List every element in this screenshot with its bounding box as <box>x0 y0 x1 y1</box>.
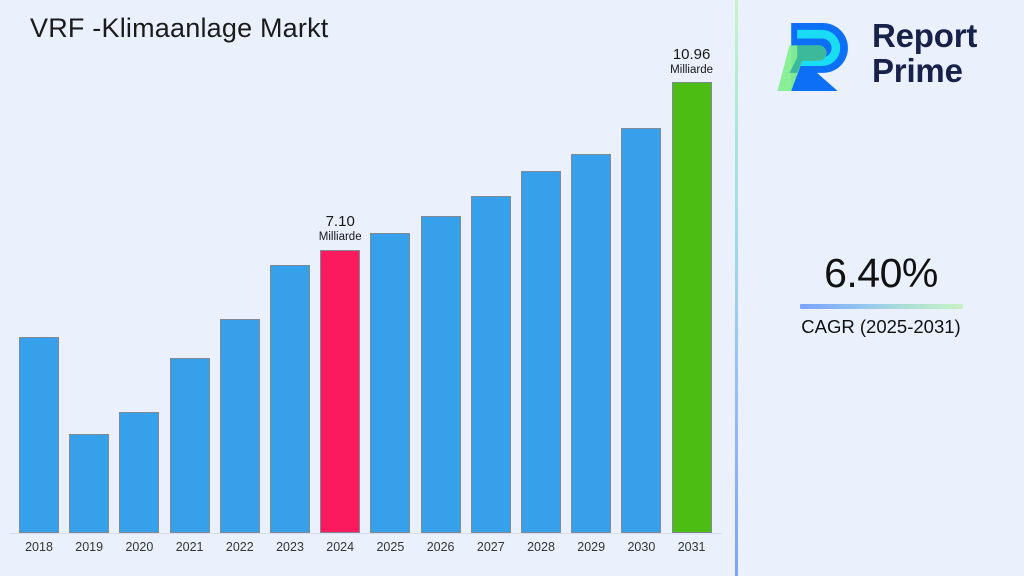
right-panel: Report Prime 6.40% CAGR (2025-2031) <box>738 0 1024 576</box>
bar-2021[interactable] <box>170 358 210 533</box>
bar-2031[interactable] <box>672 82 712 533</box>
report-prime-logo-icon <box>774 11 860 97</box>
x-axis-tick-2028: 2028 <box>513 540 569 554</box>
x-axis-tick-2025: 2025 <box>362 540 418 554</box>
bar-group-2020 <box>119 412 159 533</box>
cagr-caption: CAGR (2025-2031) <box>738 316 1024 338</box>
x-axis-tick-2030: 2030 <box>613 540 669 554</box>
cagr-block: 6.40% CAGR (2025-2031) <box>738 252 1024 338</box>
bar-group-2019 <box>69 434 109 533</box>
bar-group-2028 <box>521 171 561 533</box>
x-axis-tick-2022: 2022 <box>212 540 268 554</box>
bar-2020[interactable] <box>119 412 159 533</box>
brand-name-line1: Report <box>872 17 977 54</box>
bar-unit-2031: Milliarde <box>670 64 713 77</box>
x-axis-tick-2026: 2026 <box>413 540 469 554</box>
x-axis-line <box>10 533 722 534</box>
bar-group-2025 <box>370 233 410 533</box>
bar-value-2024: 7.10 <box>319 214 362 231</box>
infographic-root: VRF -Klimaanlage Markt 20182019202020212… <box>0 0 1024 576</box>
cagr-divider-rule <box>800 304 963 309</box>
bar-2027[interactable] <box>471 196 511 533</box>
bar-value-label-2024: 7.10Milliarde <box>319 214 362 244</box>
bar-2028[interactable] <box>521 171 561 533</box>
bar-2022[interactable] <box>220 319 260 533</box>
bar-value-label-2031: 10.96Milliarde <box>670 47 713 77</box>
bar-group-2027 <box>471 196 511 533</box>
bar-2018[interactable] <box>19 337 59 533</box>
brand-name-line2: Prime <box>872 52 963 89</box>
bar-group-2031: 10.96Milliarde <box>672 82 712 533</box>
x-axis-tick-2031: 2031 <box>664 540 720 554</box>
bar-chart-plot-area: 2018201920202021202220237.10Milliarde202… <box>0 0 736 576</box>
x-axis-tick-2029: 2029 <box>563 540 619 554</box>
cagr-value: 6.40% <box>738 252 1024 295</box>
brand-name: Report Prime <box>872 19 977 88</box>
bar-2023[interactable] <box>270 265 310 533</box>
bar-group-2022 <box>220 319 260 533</box>
bar-group-2026 <box>421 216 461 533</box>
bar-2030[interactable] <box>621 128 661 533</box>
x-axis-tick-2023: 2023 <box>262 540 318 554</box>
bar-2026[interactable] <box>421 216 461 533</box>
x-axis-tick-2018: 2018 <box>11 540 67 554</box>
x-axis-tick-2020: 2020 <box>111 540 167 554</box>
bar-group-2023 <box>270 265 310 533</box>
bar-group-2029 <box>571 154 611 533</box>
bar-2029[interactable] <box>571 154 611 533</box>
bar-2019[interactable] <box>69 434 109 533</box>
bar-value-2031: 10.96 <box>670 47 713 64</box>
bar-group-2018 <box>19 337 59 533</box>
bar-group-2030 <box>621 128 661 533</box>
x-axis-tick-2021: 2021 <box>162 540 218 554</box>
chart-panel: VRF -Klimaanlage Markt 20182019202020212… <box>0 0 736 576</box>
bar-unit-2024: Milliarde <box>319 231 362 244</box>
x-axis-tick-2024: 2024 <box>312 540 368 554</box>
brand-logo: Report Prime <box>774 8 1004 100</box>
x-axis-tick-2027: 2027 <box>463 540 519 554</box>
bar-group-2021 <box>170 358 210 533</box>
x-axis-tick-2019: 2019 <box>61 540 117 554</box>
bar-2025[interactable] <box>370 233 410 533</box>
bar-group-2024: 7.10Milliarde <box>320 250 360 533</box>
bar-2024[interactable] <box>320 250 360 533</box>
